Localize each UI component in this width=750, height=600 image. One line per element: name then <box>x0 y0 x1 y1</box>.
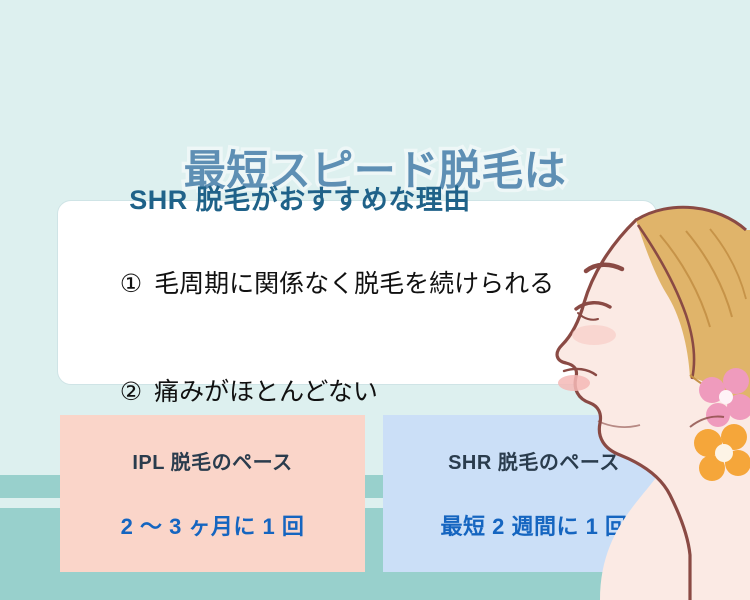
woman-profile-illustration <box>540 175 750 600</box>
reasons-list: ①毛周期に関係なく脱毛を続けられる ②痛みがほとんどない <box>78 243 598 460</box>
list-item: ①毛周期に関係なく脱毛を続けられる <box>78 243 598 326</box>
pace-box-ipl-value: 2 〜 3 ヶ月に 1 回 <box>121 509 305 541</box>
list-item-number: ② <box>120 378 142 406</box>
list-item-text: 毛周期に関係なく脱毛を続けられる <box>154 270 554 298</box>
list-item-number: ① <box>120 270 142 298</box>
lower-lip <box>558 375 590 391</box>
list-item: ②痛みがほとんどない <box>78 352 598 435</box>
reasons-card-heading: SHR 脱毛がおすすめな理由 <box>0 178 600 217</box>
flower-orange-icon <box>694 424 750 481</box>
list-item-text: 痛みがほとんどない <box>154 378 378 406</box>
poster-canvas: 最短スピード脱毛は SHR 脱毛（蓄熱式）がおすすめ SHR 脱毛がおすすめな理… <box>0 0 750 600</box>
cheek-blush <box>572 325 616 345</box>
